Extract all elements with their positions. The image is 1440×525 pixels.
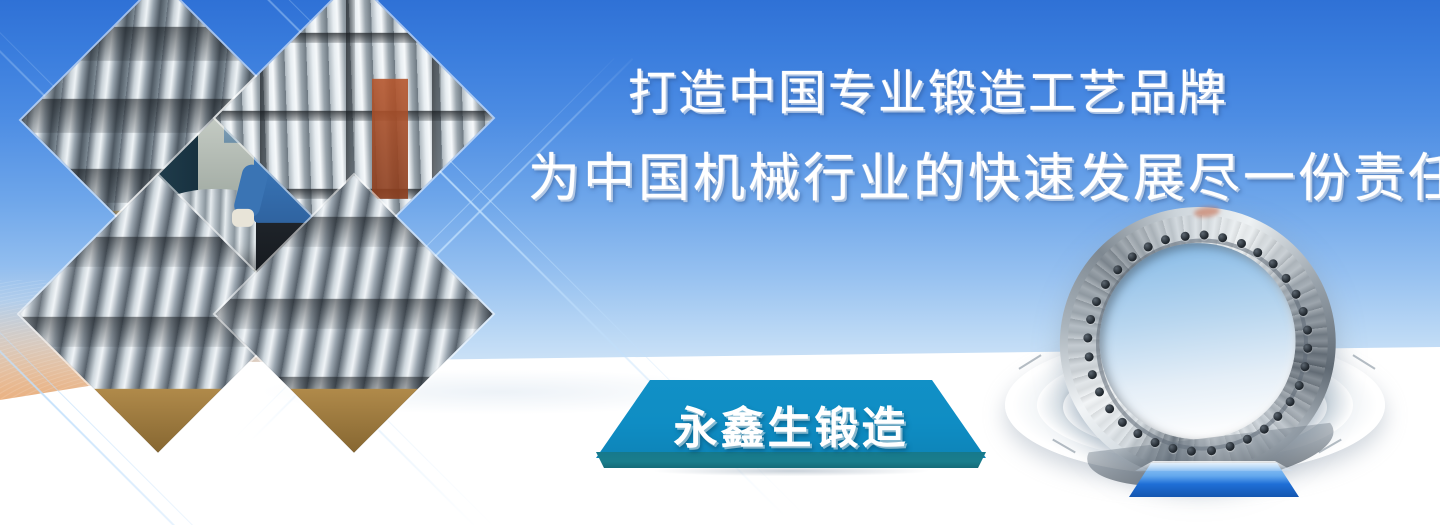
promo-banner: 打造中国专业锻造工艺品牌 为中国机械行业的快速发展尽一份责任 永鑫生锻造 bbox=[0, 0, 1440, 525]
ring-bolt-hole bbox=[1291, 289, 1301, 299]
photo-collage bbox=[40, 0, 460, 390]
ring-bolt-hole bbox=[1294, 380, 1304, 390]
ring-bolt-hole bbox=[1281, 273, 1291, 283]
ring-bolt-hole bbox=[1084, 351, 1094, 361]
ring-bolt-hole bbox=[1180, 231, 1190, 241]
hero-product-stage bbox=[985, 215, 1405, 515]
ring-bolt-hole bbox=[1206, 445, 1216, 455]
pedestal-step-highlight bbox=[1135, 461, 1293, 471]
ring-bolt-hole bbox=[1302, 325, 1312, 335]
headline-line-1: 打造中国专业锻造工艺品牌 bbox=[628, 68, 1228, 120]
company-name-badge[interactable]: 永鑫生锻造 bbox=[596, 380, 986, 472]
badge-label: 永鑫生锻造 bbox=[596, 392, 986, 456]
